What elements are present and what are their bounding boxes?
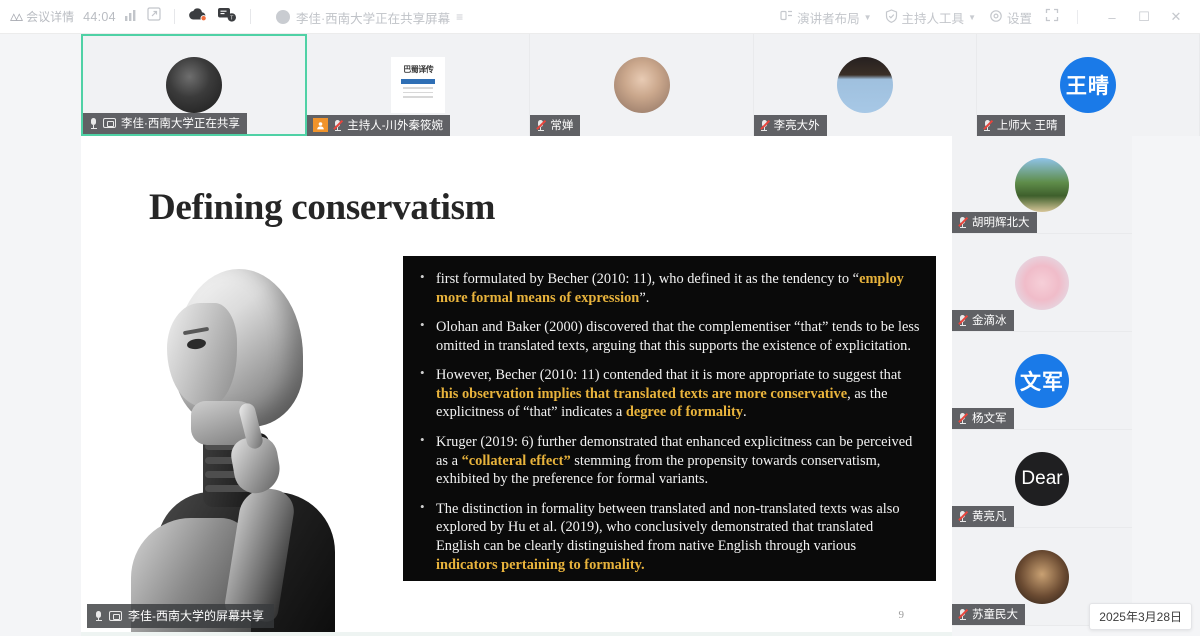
shared-screen-view[interactable]: Defining conservatism f [81, 136, 952, 636]
plain-run: The distinction in formality between tra… [436, 501, 900, 554]
toolbar-left-group: ▵▵ 会议详情 44:04 T [0, 7, 255, 27]
mic-muted-icon [760, 119, 769, 131]
participant-name: 黄亮凡 [972, 508, 1007, 524]
highlighted-run: degree of formality [626, 404, 743, 420]
live-caption-icon[interactable]: T [217, 7, 237, 27]
close-icon[interactable]: ✕ [1160, 0, 1192, 34]
bullet-item-4: The distinction in formality between tra… [417, 500, 920, 574]
sidebar-namebar-1: 胡明辉北大 [952, 212, 1037, 233]
participant-name: 李佳·西南大学正在共享 [121, 115, 240, 131]
gear-icon [989, 9, 1003, 26]
mini-doc-line [403, 87, 433, 89]
mic-muted-icon [958, 510, 967, 522]
sidebar-empty-area [1132, 136, 1200, 636]
highlighted-run: this observation implies that translated… [436, 386, 847, 402]
plain-run: first formulated by Becher (2010: 11), w… [436, 271, 859, 287]
meeting-window: ▵▵ 会议详情 44:04 T 李佳·西南大学正在共享屏幕 ≡ [0, 0, 1200, 636]
participant-name: 常婵 [550, 117, 573, 133]
mini-doc-bar [401, 79, 435, 84]
bullet-item-3: Kruger (2019: 6) further demonstrated th… [417, 433, 920, 489]
signal-bars-icon[interactable] [125, 8, 138, 26]
speaker-layout-label: 演讲者布局 [797, 8, 860, 27]
thumbnail-namebar-2: 常婵 [530, 115, 580, 136]
app-logo-icon: ▵▵ [10, 9, 21, 24]
participant-sidebar[interactable]: 新欣 武汉大学+肖新欣 胡明辉北大 金滴冰 [952, 136, 1200, 636]
bullet-text-0: first formulated by Becher (2010: 11), w… [436, 271, 904, 306]
bullet-item-1: Olohan and Baker (2000) discovered that … [417, 318, 920, 355]
bullet-text-1: Olohan and Baker (2000) discovered that … [436, 319, 920, 354]
sharing-status-text: 李佳·西南大学正在共享屏幕 [296, 8, 450, 27]
window-controls: ‒ ☐ ✕ [1096, 0, 1192, 34]
avatar: 王晴 [1060, 57, 1116, 113]
sidebar-namebar-5: 苏童民大 [952, 604, 1025, 625]
mic-muted-icon [983, 119, 992, 131]
mini-doc-title: 巴蜀译传 [403, 64, 433, 75]
thumbnail-namebar-0: 李佳·西南大学正在共享 [83, 113, 247, 134]
toolbar-divider-2 [250, 9, 251, 24]
layout-icon [780, 9, 793, 25]
sharer-avatar [276, 10, 290, 24]
thumbnail-tile-3[interactable]: 李亮大外 [754, 34, 977, 136]
sidebar-tile-1[interactable]: 胡明辉北大 [952, 136, 1132, 234]
left-gutter [0, 136, 81, 636]
mic-muted-icon [333, 119, 342, 131]
highlighted-run: “collateral effect” [462, 453, 571, 469]
sidebar-tile-4[interactable]: Dear 黄亮凡 [952, 430, 1132, 528]
presentation-slide: Defining conservatism f [81, 136, 952, 636]
avatar [1015, 158, 1069, 212]
shield-icon [885, 9, 898, 26]
meeting-timer: 44:04 [83, 10, 116, 24]
avatar: 巴蜀译传 [391, 57, 445, 113]
mini-doc-line-3 [403, 96, 433, 98]
plain-run: Olohan and Baker (2000) discovered that … [436, 319, 920, 354]
host-badge-icon [313, 118, 328, 132]
sidebar-namebar-2: 金滴冰 [952, 310, 1014, 331]
participant-name: 金滴冰 [972, 312, 1007, 328]
bullet-text-2: However, Becher (2010: 11) contended tha… [436, 367, 901, 420]
thumbnail-tile-1[interactable]: 巴蜀译传 主持人-川外秦筱婉 [307, 34, 530, 136]
mic-muted-icon [958, 412, 967, 424]
thumbnail-list: 李佳·西南大学正在共享 巴蜀译传 主持人-川外秦筱婉 [81, 34, 1200, 136]
participant-name: 胡明辉北大 [972, 214, 1030, 230]
meeting-info-button[interactable]: ▵▵ 会议详情 [10, 8, 74, 25]
avatar [1015, 550, 1069, 604]
maximize-icon[interactable]: ☐ [1128, 0, 1160, 34]
host-tools-label: 主持人工具 [902, 8, 965, 27]
participant-name: 上师大 王晴 [997, 117, 1058, 133]
thumbnail-tile-2[interactable]: 常婵 [530, 34, 753, 136]
avatar [1015, 256, 1069, 310]
share-bottom-edge [81, 632, 952, 636]
mic-icon [94, 610, 103, 622]
host-tools-button[interactable]: 主持人工具 ▼ [885, 8, 976, 27]
sidebar-tile-3[interactable]: 文军 杨文军 [952, 332, 1132, 430]
bullet-item-0: first formulated by Becher (2010: 11), w… [417, 270, 920, 307]
chevron-down-icon: ▼ [864, 13, 872, 22]
plain-run: . [743, 404, 747, 420]
strip-left-padding [0, 34, 81, 136]
thumbnail-namebar-4: 上师大 王晴 [977, 115, 1065, 136]
avatar: Dear [1015, 452, 1069, 506]
minimize-icon[interactable]: ‒ [1096, 0, 1128, 34]
participant-name: 苏童民大 [972, 606, 1018, 622]
mic-muted-icon [536, 119, 545, 131]
participant-name: 李亮大外 [774, 117, 820, 133]
toolbar-right-group: 演讲者布局 ▼ 主持人工具 ▼ 设置 ‒ ☐ [780, 0, 1200, 34]
thumbnail-tile-0[interactable]: 李佳·西南大学正在共享 [81, 34, 307, 136]
mini-doc-line-2 [403, 92, 433, 94]
slide-page-number: 9 [899, 609, 905, 621]
avatar [614, 57, 670, 113]
settings-button[interactable]: 设置 [989, 8, 1032, 27]
bullet-list: first formulated by Becher (2010: 11), w… [417, 270, 920, 574]
highlighted-run: indicators pertaining to formality. [436, 557, 645, 573]
sidebar-tile-column: 新欣 武汉大学+肖新欣 胡明辉北大 金滴冰 [952, 136, 1132, 626]
sharing-status-group: 李佳·西南大学正在共享屏幕 ≡ [276, 0, 464, 34]
robot-illustration [83, 261, 413, 636]
window-divider [1077, 10, 1078, 24]
bullet-text-4: The distinction in formality between tra… [436, 501, 900, 573]
avatar: 文军 [1015, 354, 1069, 408]
participant-name: 主持人-川外秦筱婉 [347, 117, 443, 133]
sidebar-namebar-3: 杨文军 [952, 408, 1014, 429]
mic-muted-icon [958, 216, 967, 228]
screen-share-icon [109, 611, 122, 621]
settings-label: 设置 [1007, 8, 1032, 27]
avatar [837, 57, 893, 113]
slide-text-box: first formulated by Becher (2010: 11), w… [403, 256, 936, 581]
mic-icon [89, 117, 98, 129]
plain-run: ”. [639, 290, 649, 306]
date-tooltip: 2025年3月28日 [1089, 603, 1192, 630]
avatar [166, 57, 222, 113]
participant-thumbnail-strip: 李佳·西南大学正在共享 巴蜀译传 主持人-川外秦筱婉 [0, 34, 1200, 136]
chevron-down-icon-2: ▼ [968, 13, 976, 22]
speaker-layout-button[interactable]: 演讲者布局 ▼ [780, 8, 871, 27]
mic-muted-icon [958, 608, 967, 620]
bullet-item-2: However, Becher (2010: 11) contended tha… [417, 366, 920, 422]
toolbar-divider [174, 9, 175, 24]
cloud-record-icon[interactable] [188, 7, 208, 27]
thumbnail-namebar-3: 李亮大外 [754, 115, 827, 136]
sidebar-tile-2[interactable]: 金滴冰 [952, 234, 1132, 332]
top-toolbar: ▵▵ 会议详情 44:04 T 李佳·西南大学正在共享屏幕 ≡ [0, 0, 1200, 34]
sidebar-namebar-4: 黄亮凡 [952, 506, 1014, 527]
screen-share-icon [103, 118, 116, 128]
bullet-text-3: Kruger (2019: 6) further demonstrated th… [436, 434, 912, 487]
meeting-info-label: 会议详情 [26, 8, 74, 25]
slide-title: Defining conservatism [149, 186, 495, 229]
fullscreen-icon[interactable] [1045, 8, 1059, 27]
more-options-icon[interactable]: ≡ [456, 10, 464, 24]
thumbnail-namebar-1: 主持人-川外秦筱婉 [307, 115, 450, 136]
popout-window-icon[interactable] [147, 7, 161, 26]
thumbnail-tile-4[interactable]: 王晴 上师大 王晴 [977, 34, 1200, 136]
share-owner-label: 李佳-西南大学的屏幕共享 [128, 607, 264, 624]
mic-muted-icon [958, 314, 967, 326]
share-owner-namebar: 李佳-西南大学的屏幕共享 [87, 604, 274, 628]
plain-run: However, Becher (2010: 11) contended tha… [436, 367, 901, 383]
participant-name: 杨文军 [972, 410, 1007, 426]
